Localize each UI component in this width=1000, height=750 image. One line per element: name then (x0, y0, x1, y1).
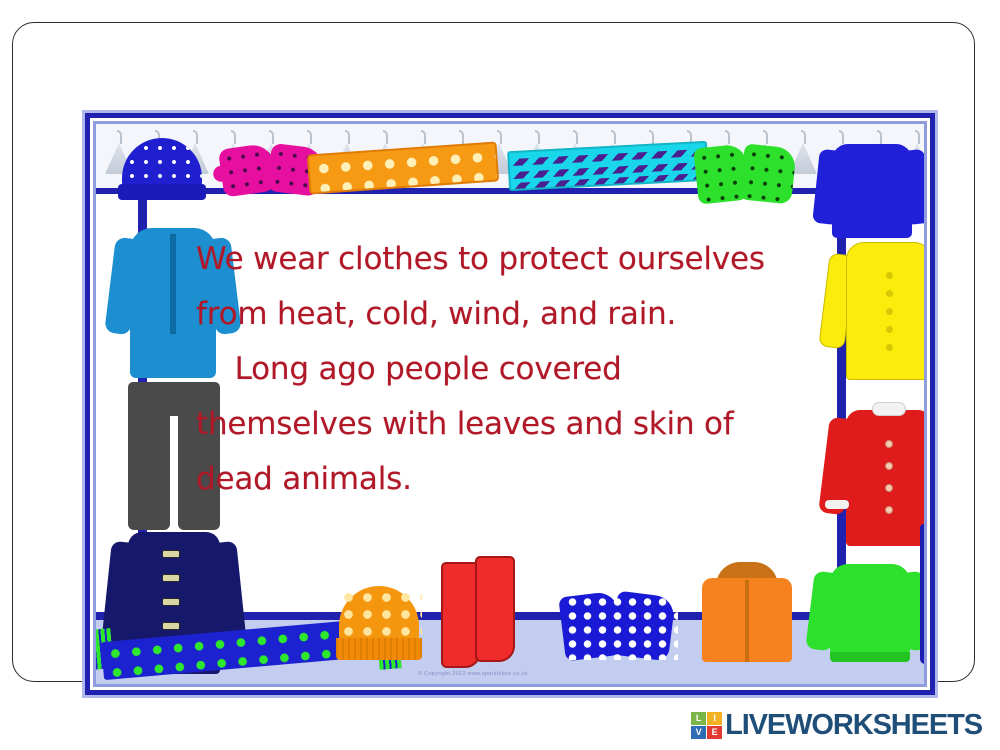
liveworksheets-logo-grid: L I V E (691, 712, 722, 739)
clothing-hat-blue (118, 138, 206, 200)
liveworksheets-logo[interactable]: L I V E LIVEWORKSHEETS (691, 709, 982, 742)
logo-tile-e: E (707, 726, 722, 739)
text-line-3: Long ago people covered (196, 342, 846, 397)
text-line-1: We wear clothes to protect ourselves (196, 232, 846, 287)
text-line-5: dead animals. (196, 452, 846, 507)
clothing-gloves-blue (562, 592, 678, 660)
logo-tile-v: V (691, 726, 706, 739)
clothing-hat-orange (336, 586, 422, 660)
text-line-2: from heat, cold, wind, and rain. (196, 287, 846, 342)
clothing-sweatshirt-green (810, 560, 927, 662)
copyright-notice: © Copyright 2012 www.sparklebox.co.uk (418, 671, 528, 677)
text-line-4: themselves with leaves and skin of (196, 397, 846, 452)
clothing-hoodie-orange (692, 562, 802, 662)
slide-card: © Copyright 2012 www.sparklebox.co.uk (12, 22, 975, 682)
worksheet-text: We wear clothes to protect ourselves fro… (196, 232, 846, 507)
clothing-jeans-blue (916, 524, 927, 664)
worksheet-inner-area: © Copyright 2012 www.sparklebox.co.uk (93, 121, 927, 687)
clothing-boots-red (441, 556, 521, 662)
liveworksheets-wordmark: LIVEWORKSHEETS (725, 709, 982, 742)
logo-tile-l: L (691, 712, 706, 725)
clothing-gloves-green (696, 144, 800, 206)
logo-tile-i: I (707, 712, 722, 725)
worksheet-image-frame: © Copyright 2012 www.sparklebox.co.uk (85, 113, 935, 695)
clothing-sweater-blue (814, 136, 927, 242)
